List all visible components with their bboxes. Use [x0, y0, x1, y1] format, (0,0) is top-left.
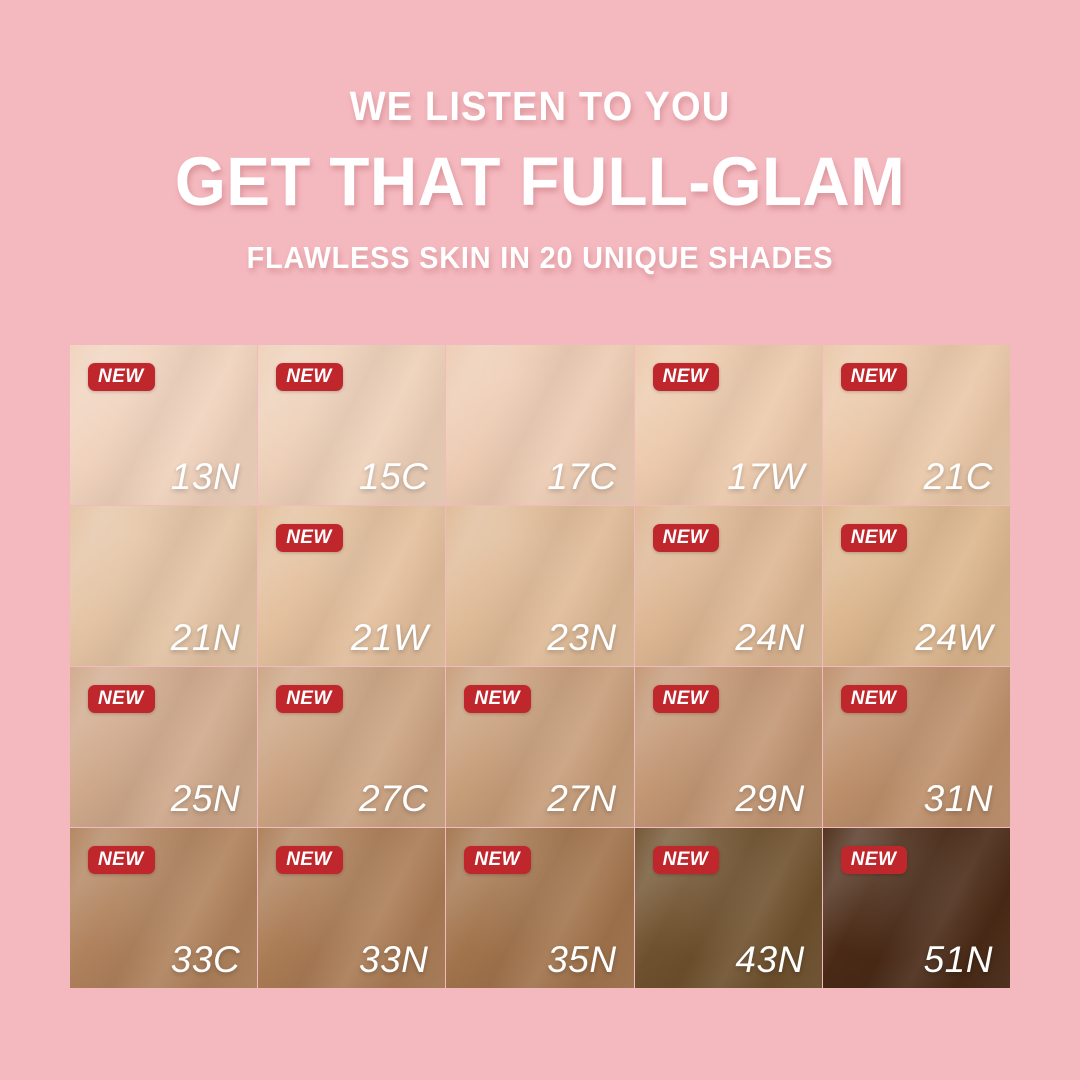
shade-code-label: 24N: [735, 619, 804, 656]
shade-code-label: 25N: [171, 780, 240, 817]
new-badge: NEW: [276, 846, 343, 874]
shade-code-label: 17C: [547, 458, 616, 495]
shade-code-label: 17W: [727, 458, 805, 495]
shade-swatch[interactable]: NEW25N: [70, 667, 257, 827]
shade-swatch[interactable]: NEW24N: [635, 506, 822, 666]
shade-swatch[interactable]: NEW33N: [258, 828, 445, 988]
shade-swatch[interactable]: NEW29N: [635, 667, 822, 827]
shade-swatch[interactable]: NEW35N: [446, 828, 633, 988]
shade-code-label: 24W: [915, 619, 993, 656]
shade-code-label: 33N: [359, 941, 428, 978]
shade-swatch[interactable]: NEW21W: [258, 506, 445, 666]
shade-code-label: 13N: [171, 458, 240, 495]
headline-main: GET THAT FULL-GLAM: [27, 147, 1053, 216]
shade-swatch[interactable]: NEW24W: [823, 506, 1010, 666]
new-badge: NEW: [88, 685, 155, 713]
shade-code-label: 21C: [924, 458, 993, 495]
shade-swatch[interactable]: NEW13N: [70, 345, 257, 505]
headline-eyebrow: WE LISTEN TO YOU: [38, 86, 1042, 127]
new-badge: NEW: [653, 685, 720, 713]
shade-code-label: 27N: [547, 780, 616, 817]
shade-code-label: 51N: [924, 941, 993, 978]
new-badge: NEW: [653, 363, 720, 391]
shade-grid: NEW13NNEW15CNEW17CNEW17WNEW21CNEW21NNEW2…: [70, 345, 1010, 988]
headline-subtitle: FLAWLESS SKIN IN 20 UNIQUE SHADES: [38, 242, 1042, 273]
shade-swatch[interactable]: NEW51N: [823, 828, 1010, 988]
shade-code-label: 31N: [924, 780, 993, 817]
shade-swatch[interactable]: NEW17W: [635, 345, 822, 505]
shade-code-label: 29N: [735, 780, 804, 817]
shade-swatch[interactable]: NEW15C: [258, 345, 445, 505]
shade-code-label: 35N: [547, 941, 616, 978]
shade-swatch[interactable]: NEW43N: [635, 828, 822, 988]
new-badge: NEW: [464, 846, 531, 874]
shade-swatch[interactable]: NEW27N: [446, 667, 633, 827]
new-badge: NEW: [841, 685, 908, 713]
shade-code-label: 21W: [351, 619, 429, 656]
new-badge: NEW: [841, 524, 908, 552]
shade-swatch[interactable]: NEW17C: [446, 345, 633, 505]
new-badge: NEW: [276, 685, 343, 713]
promo-graphic: WE LISTEN TO YOU GET THAT FULL-GLAM FLAW…: [0, 0, 1080, 1080]
shade-code-label: 21N: [171, 619, 240, 656]
shade-swatch[interactable]: NEW27C: [258, 667, 445, 827]
new-badge: NEW: [653, 846, 720, 874]
headline-block: WE LISTEN TO YOU GET THAT FULL-GLAM FLAW…: [0, 0, 1080, 273]
new-badge: NEW: [88, 846, 155, 874]
shade-swatch[interactable]: NEW23N: [446, 506, 633, 666]
shade-code-label: 33C: [171, 941, 240, 978]
shade-swatch[interactable]: NEW21C: [823, 345, 1010, 505]
shade-code-label: 23N: [547, 619, 616, 656]
shade-code-label: 43N: [735, 941, 804, 978]
new-badge: NEW: [276, 363, 343, 391]
new-badge: NEW: [841, 363, 908, 391]
new-badge: NEW: [88, 363, 155, 391]
new-badge: NEW: [276, 524, 343, 552]
shade-code-label: 27C: [359, 780, 428, 817]
shade-swatch[interactable]: NEW21N: [70, 506, 257, 666]
new-badge: NEW: [653, 524, 720, 552]
shade-swatch[interactable]: NEW33C: [70, 828, 257, 988]
shade-swatch[interactable]: NEW31N: [823, 667, 1010, 827]
new-badge: NEW: [841, 846, 908, 874]
shade-code-label: 15C: [359, 458, 428, 495]
new-badge: NEW: [464, 685, 531, 713]
